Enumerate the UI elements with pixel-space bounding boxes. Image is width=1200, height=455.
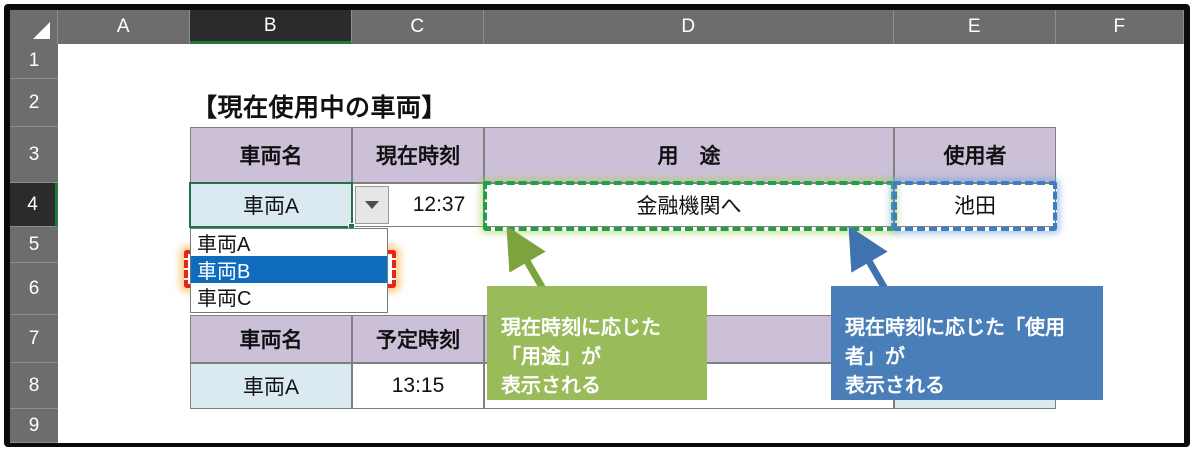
row-header-4[interactable]: 4 bbox=[10, 183, 58, 227]
data-validation-dropdown-button[interactable] bbox=[355, 186, 389, 224]
header-scheduled-time: 予定時刻 bbox=[352, 315, 484, 363]
row-header-8[interactable]: 8 bbox=[10, 363, 58, 409]
column-header-b[interactable]: B bbox=[190, 10, 352, 44]
cell-b4-vehicle-name[interactable]: 車両A bbox=[190, 183, 352, 227]
column-header-a[interactable]: A bbox=[58, 10, 190, 44]
dropdown-option-1[interactable]: 車両B bbox=[191, 256, 387, 283]
dropdown-option-0[interactable]: 車両A bbox=[191, 229, 387, 256]
highlight-purpose-cell bbox=[483, 181, 895, 231]
row-header-2[interactable]: 2 bbox=[10, 79, 58, 127]
callout-purpose: 現在時刻に応じた「用途」が 表示される bbox=[487, 286, 707, 400]
header-user: 使用者 bbox=[894, 127, 1056, 183]
column-header-f[interactable]: F bbox=[1056, 10, 1184, 44]
callout-purpose-line1: 現在時刻に応じた「用途」が bbox=[501, 314, 693, 372]
chevron-down-icon bbox=[365, 201, 379, 209]
column-header-e[interactable]: E bbox=[894, 10, 1056, 44]
row-header-9[interactable]: 9 bbox=[10, 409, 58, 443]
select-all-corner[interactable] bbox=[10, 10, 58, 44]
row-header-7[interactable]: 7 bbox=[10, 315, 58, 363]
row-header-6[interactable]: 6 bbox=[10, 263, 58, 315]
header-purpose: 用 途 bbox=[484, 127, 894, 183]
callout-user: 現在時刻に応じた「使用者」が 表示される bbox=[831, 286, 1103, 400]
callout-user-line2: 表示される bbox=[845, 372, 1089, 401]
header-vehicle-name-schedule: 車両名 bbox=[190, 315, 352, 363]
column-header-d[interactable]: D bbox=[484, 10, 894, 44]
callout-purpose-line2: 表示される bbox=[501, 372, 693, 401]
column-header-c[interactable]: C bbox=[352, 10, 484, 44]
highlight-user-cell bbox=[893, 181, 1057, 231]
cell-c8-scheduled-time[interactable]: 13:15 bbox=[352, 363, 484, 409]
row-header-5[interactable]: 5 bbox=[10, 227, 58, 263]
data-validation-dropdown-list[interactable]: 車両A 車両B 車両C bbox=[190, 228, 388, 313]
select-all-triangle-icon bbox=[33, 22, 50, 39]
row-header-1[interactable]: 1 bbox=[10, 44, 58, 79]
callout-user-line1: 現在時刻に応じた「使用者」が bbox=[845, 314, 1089, 372]
section-title-current: 【現在使用中の車両】 bbox=[192, 88, 447, 124]
screenshot-root: A B C D E F 1 2 3 4 5 6 7 8 9 【現在使用中の車両】… bbox=[0, 0, 1200, 455]
row-header-bar: 1 2 3 4 5 6 7 8 9 bbox=[10, 44, 58, 443]
dropdown-option-2[interactable]: 車両C bbox=[191, 283, 387, 310]
header-vehicle-name-current: 車両名 bbox=[190, 127, 352, 183]
row-header-3[interactable]: 3 bbox=[10, 127, 58, 183]
cell-b8-vehicle-name[interactable]: 車両A bbox=[190, 363, 352, 409]
header-current-time: 現在時刻 bbox=[352, 127, 484, 183]
column-header-bar: A B C D E F bbox=[10, 10, 1184, 44]
